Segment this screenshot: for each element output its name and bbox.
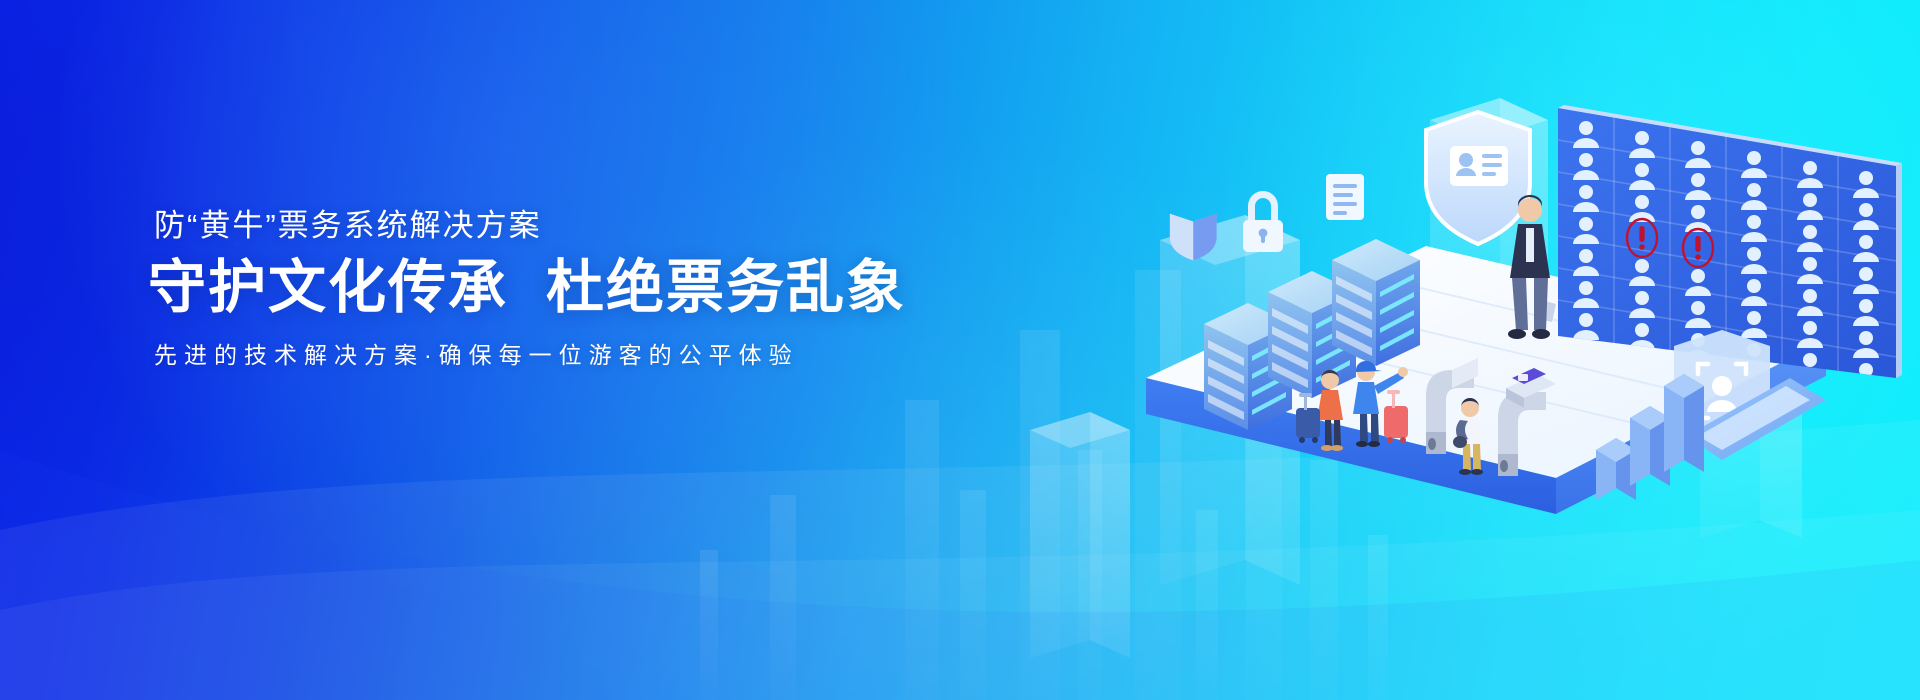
shield-icon <box>1170 214 1217 261</box>
lock-icon <box>1243 191 1283 252</box>
hero-copy-block: 防“黄牛”票务系统解决方案 守护文化传承杜绝票务乱象 先进的技术解决方案·确保每… <box>148 206 928 371</box>
id-card-shield-icon <box>1426 112 1530 244</box>
headline-part-1: 守护文化传承 <box>148 255 508 320</box>
hero-illustration <box>1126 78 1906 498</box>
subtitle-text: 先进的技术解决方案·确保每一位游客的公平体验 <box>154 339 928 371</box>
page-title: 守护文化传承杜绝票务乱象 <box>148 254 928 322</box>
eyebrow-text: 防“黄牛”票务系统解决方案 <box>154 206 928 246</box>
headline-part-2: 杜绝票务乱象 <box>546 255 906 320</box>
document-icon <box>1326 174 1364 220</box>
server-rack <box>1332 239 1420 366</box>
hero-banner: 防“黄牛”票务系统解决方案 守护文化传承杜绝票务乱象 先进的技术解决方案·确保每… <box>0 0 1920 700</box>
